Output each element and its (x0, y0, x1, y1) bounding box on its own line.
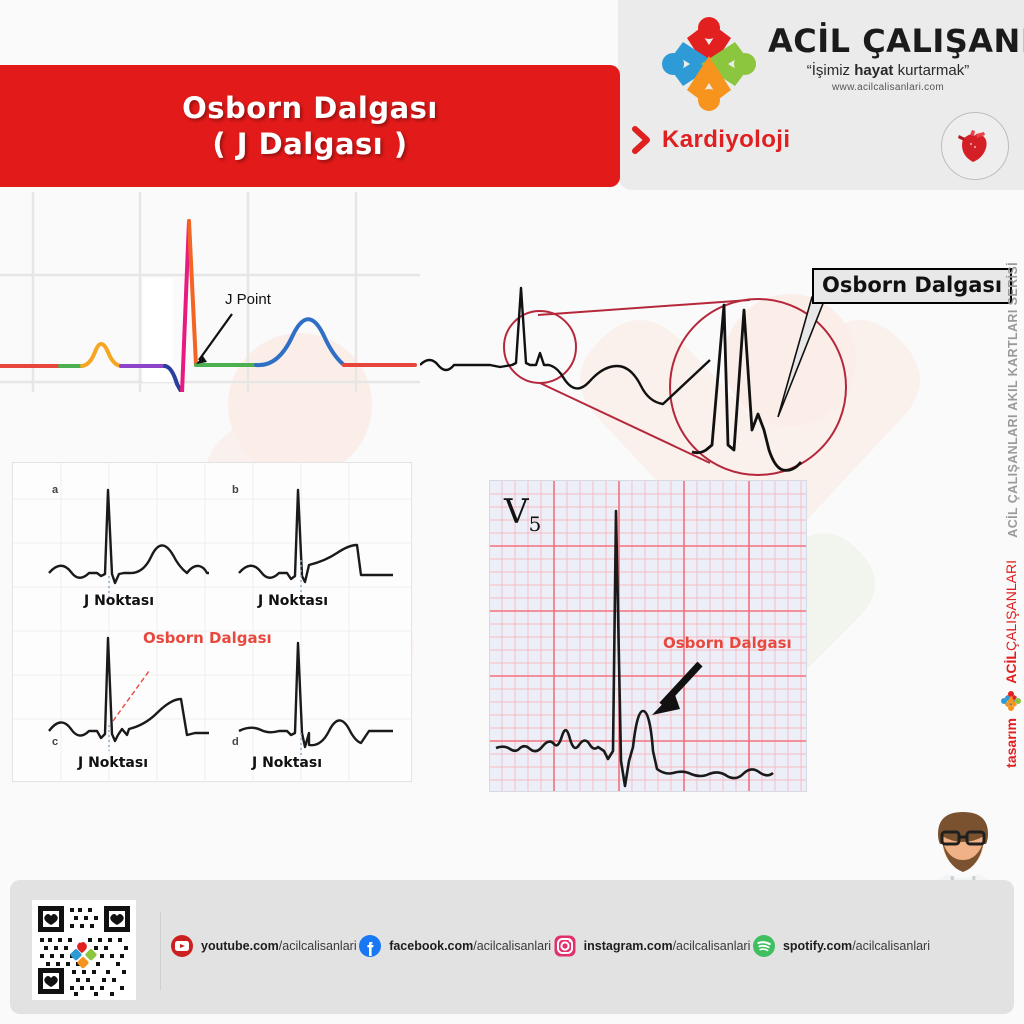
social-text-spotify: spotify.com/acilcalisanlari (783, 939, 930, 953)
social-text-instagram: instagram.com/acilcalisanlari (584, 939, 751, 953)
designer-brand-text: ACİLÇALIŞANLARI (1003, 560, 1019, 684)
chevron-right-icon (632, 126, 652, 154)
title-line-1: Osborn Dalgası (182, 91, 438, 125)
designer-brand-bold: ACİL (1003, 651, 1019, 684)
v5-lead-number: 5 (529, 512, 542, 536)
social-domain-facebook: facebook.com (389, 939, 473, 953)
v5-osborn-label: Osborn Dalgası (663, 634, 792, 652)
designer-tasarim-text: tasarım (1003, 718, 1019, 768)
social-handle-youtube: /acilcalisanlari (279, 939, 357, 953)
quad-letter-d: d (232, 736, 239, 748)
quad-ecg-card (12, 462, 412, 782)
quad-osborn-label: Osborn Dalgası (143, 629, 272, 647)
quad-letter-b: b (232, 484, 239, 496)
slogan-prefix: “İşimiz (807, 62, 855, 79)
quad-letter-a: a (52, 484, 58, 496)
qr-code-icon[interactable] (32, 900, 136, 1000)
designer-brand-rest: ÇALIŞANLARI (1003, 560, 1019, 651)
series-vertical-text: ACİL ÇALIŞANLARI AKIL KARTLARI SERİSİ (1006, 262, 1020, 538)
social-text-facebook: facebook.com/acilcalisanlari (389, 939, 551, 953)
social-link-spotify[interactable]: spotify.com/acilcalisanlari (752, 934, 930, 958)
title-line-2: ( J Dalgası ) (212, 127, 407, 161)
spotify-icon (752, 934, 776, 958)
social-domain-spotify: spotify.com (783, 939, 852, 953)
instagram-icon (553, 934, 577, 958)
jpoint-label: J Point (225, 291, 271, 308)
social-domain-instagram: instagram.com (584, 939, 673, 953)
brand-title: ACİL ÇALIŞANLARI (768, 22, 1008, 60)
quad-caption-d: J Noktası (252, 755, 322, 771)
colored-ecg-diagram (0, 192, 420, 392)
footer-divider (160, 912, 161, 990)
brand-slogan: “İşimiz hayat kurtarmak” (768, 62, 1008, 79)
social-link-youtube[interactable]: youtube.com/acilcalisanlari (170, 934, 357, 958)
youtube-icon (170, 934, 194, 958)
facebook-icon (358, 934, 382, 958)
heart-badge (941, 112, 1009, 180)
social-links-row: youtube.com/acilcalisanlari facebook.com… (170, 934, 930, 958)
brand-url: www.acilcalisanlari.com (768, 82, 1008, 93)
v5-osborn-arrow (652, 664, 700, 715)
social-domain-youtube: youtube.com (201, 939, 279, 953)
osborn-callout-label: Osborn Dalgası (812, 268, 1012, 304)
title-banner: Osborn Dalgası ( J Dalgası ) (0, 65, 620, 187)
quad-caption-a: J Noktası (84, 593, 154, 609)
social-handle-instagram: /acilcalisanlari (673, 939, 751, 953)
anatomical-heart-icon (955, 126, 995, 166)
social-text-youtube: youtube.com/acilcalisanlari (201, 939, 357, 953)
quad-ecg-svg (13, 463, 413, 783)
brand-logo-icon (657, 12, 761, 116)
slogan-suffix: kurtarmak” (893, 62, 969, 79)
quad-caption-c: J Noktası (78, 755, 148, 771)
v5-lead-letter: V (504, 492, 529, 532)
social-link-instagram[interactable]: instagram.com/acilcalisanlari (553, 934, 751, 958)
jpoint-arrow (196, 314, 232, 364)
quad-caption-b: J Noktası (258, 593, 328, 609)
brand-logo-small-icon (1000, 690, 1022, 712)
quad-letter-c: c (52, 736, 58, 748)
social-link-facebook[interactable]: facebook.com/acilcalisanlari (358, 934, 551, 958)
social-handle-spotify: /acilcalisanlari (852, 939, 930, 953)
v5-lead-label: V5 (504, 492, 541, 536)
category-label: Kardiyoloji (662, 126, 790, 154)
category-row[interactable]: Kardiyoloji (632, 126, 790, 154)
infographic-page: ACİL ÇALIŞANLARI “İşimiz hayat kurtarmak… (0, 0, 1024, 1024)
slogan-bold: hayat (854, 62, 893, 79)
social-handle-facebook: /acilcalisanlari (473, 939, 551, 953)
designer-credit-group: ACİLÇALIŞANLARI tasarım (1000, 560, 1022, 768)
